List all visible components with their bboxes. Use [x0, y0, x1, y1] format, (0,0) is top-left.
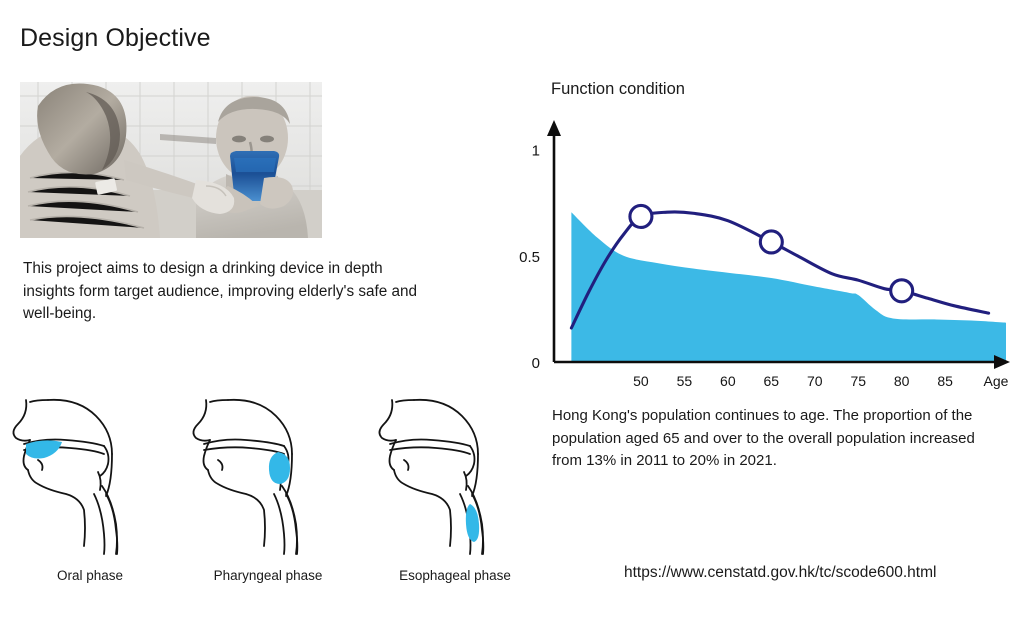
y-tick-label: 0 — [532, 355, 540, 372]
diagram-pharyngeal-phase — [180, 398, 360, 558]
x-tick-label: 60 — [720, 373, 736, 389]
x-tick-label: 65 — [764, 373, 780, 389]
chart-marker-1 — [760, 231, 782, 253]
chart-area-fill — [571, 212, 1006, 362]
x-tick-label: 75 — [850, 373, 866, 389]
x-tick-label: 55 — [677, 373, 693, 389]
y-tick-label: 1 — [532, 143, 540, 160]
esophageal-phase-illustration — [366, 398, 546, 558]
phase-label-esophageal: Esophageal phase — [365, 568, 545, 583]
chart-x-tick-labels: 5055606570758085 — [633, 373, 953, 389]
x-tick-label: 85 — [937, 373, 953, 389]
y-tick-label: 0.5 — [519, 249, 540, 266]
source-url-link[interactable]: https://www.censtatd.gov.hk/tc/scode600.… — [624, 564, 936, 582]
pharyngeal-phase-illustration — [180, 398, 360, 558]
x-tick-label: 50 — [633, 373, 649, 389]
phase-label-oral: Oral phase — [0, 568, 180, 583]
phase-label-pharyngeal: Pharyngeal phase — [178, 568, 358, 583]
chart-marker-0 — [630, 205, 652, 227]
diagram-oral-phase — [0, 398, 180, 558]
chart-caption: Hong Kong's population continues to age.… — [552, 405, 997, 473]
x-tick-label: 70 — [807, 373, 823, 389]
function-condition-chart: 00.51 5055606570758085 Age — [510, 110, 1024, 395]
chart-x-axis-label: Age — [984, 373, 1009, 389]
chart-canvas: 00.51 5055606570758085 Age — [510, 110, 1024, 395]
oral-phase-illustration — [0, 398, 180, 558]
intro-paragraph: This project aims to design a drinking d… — [23, 258, 438, 326]
chart-title: Function condition — [551, 80, 685, 99]
x-tick-label: 80 — [894, 373, 910, 389]
caregiver-photo — [20, 82, 322, 238]
diagram-esophageal-phase — [366, 398, 546, 558]
photo-image — [20, 82, 322, 238]
page-title: Design Objective — [20, 24, 211, 53]
chart-marker-2 — [891, 280, 913, 302]
chart-y-tick-labels: 00.51 — [519, 143, 540, 373]
